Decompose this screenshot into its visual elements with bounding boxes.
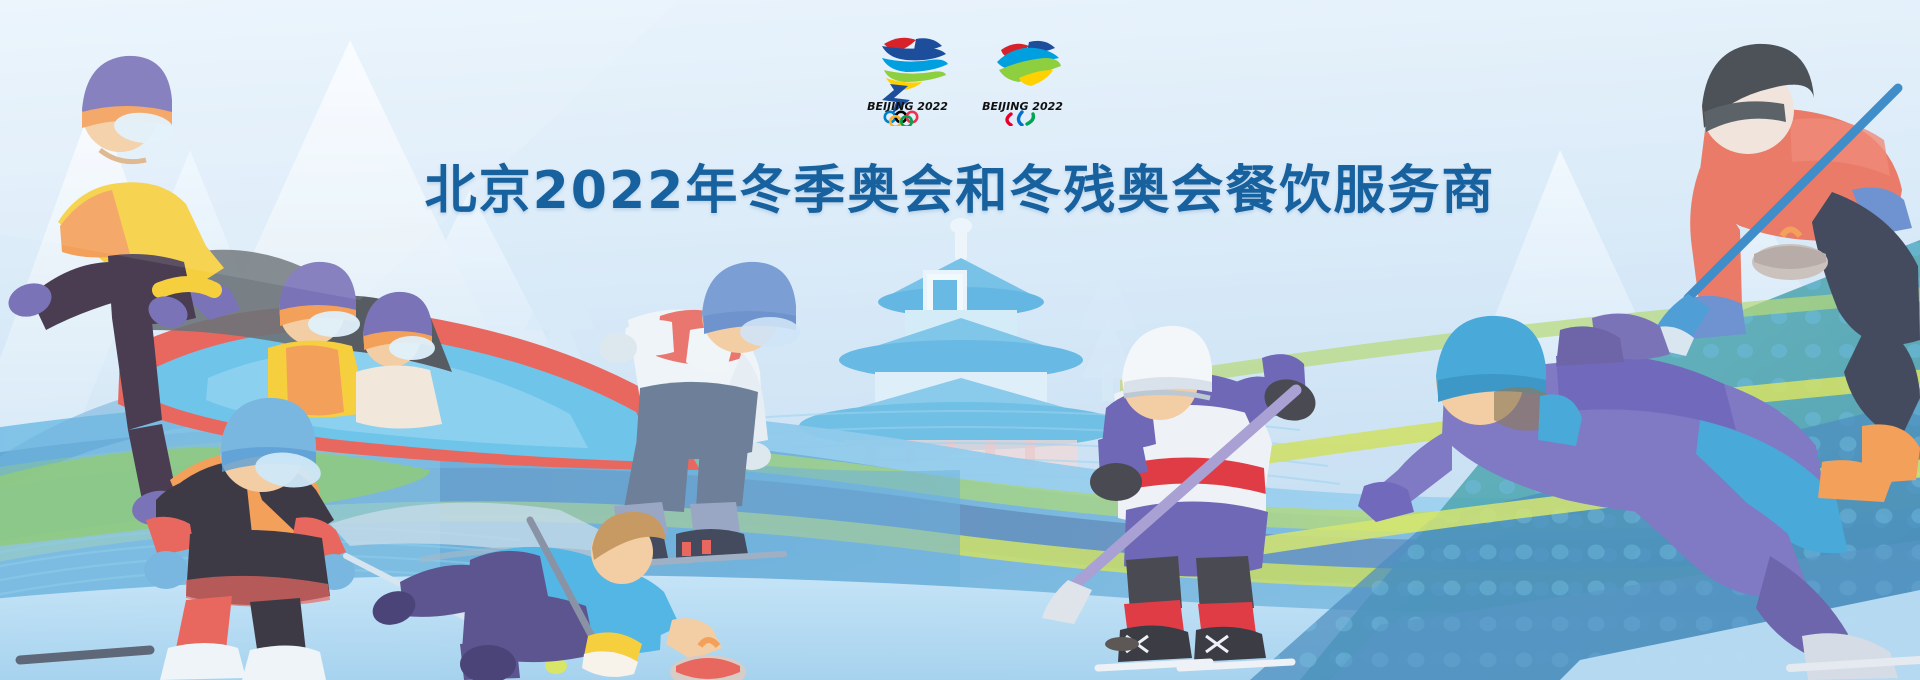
paralympic-emblem-graphic: BEIJING 2022	[975, 28, 1070, 126]
page-title: 北京2022年冬季奥会和冬残奥会餐饮服务商	[0, 148, 1920, 223]
olympic-wordmark: BEIJING 2022	[867, 100, 948, 113]
olympic-rings	[885, 112, 917, 126]
beijing-2022-banner: BEIJING 2022 BEI	[0, 0, 1920, 680]
flying-emblem-paralympic	[997, 41, 1061, 86]
olympic-emblem-graphic: BEIJING 2022	[860, 28, 955, 126]
agitos	[1007, 112, 1033, 125]
emblem-row: BEIJING 2022 BEI	[860, 28, 1070, 126]
olympic-emblem: BEIJING 2022	[860, 28, 955, 126]
paralympic-emblem: BEIJING 2022	[975, 28, 1070, 126]
